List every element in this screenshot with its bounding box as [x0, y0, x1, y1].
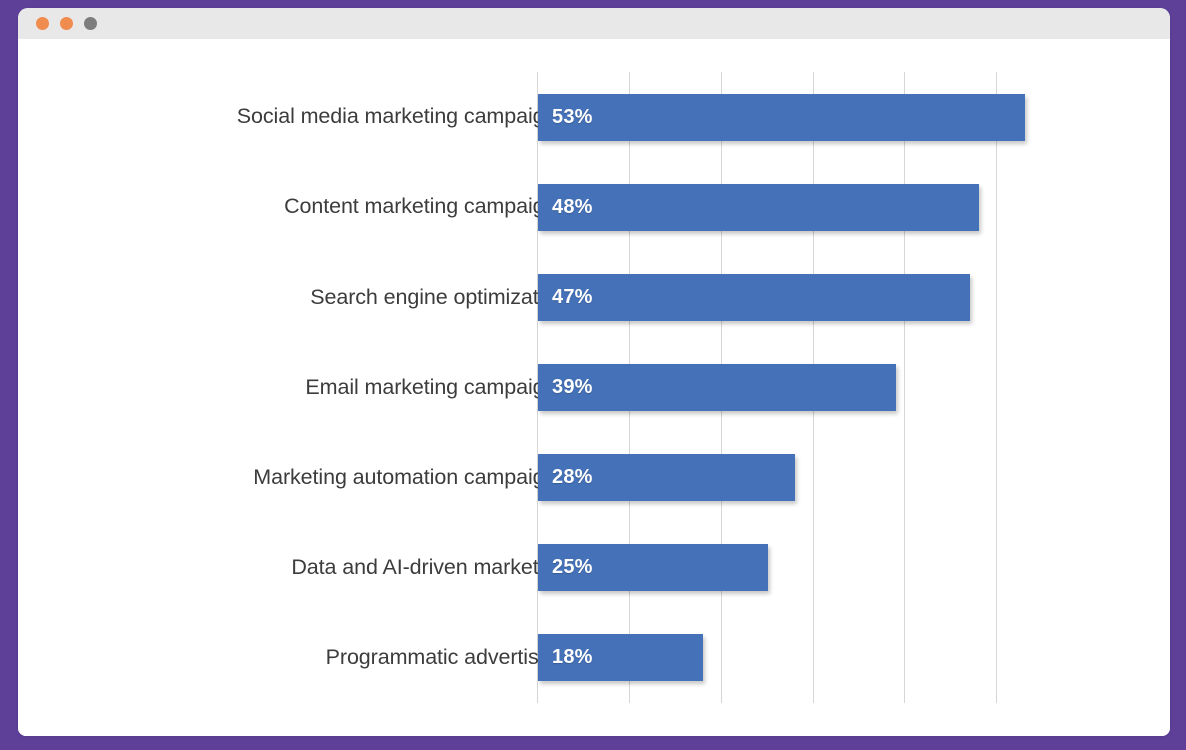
chart-bar[interactable]: 18% [538, 634, 703, 681]
category-label: Social media marketing campaigns [237, 106, 567, 128]
chart-row: Search engine optimization47% [537, 252, 1088, 342]
category-label: Programmatic advertising [326, 647, 567, 669]
category-label: Marketing automation campaigns [253, 467, 567, 489]
chart-bar[interactable]: 53% [538, 94, 1025, 141]
chart-row: Marketing automation campaigns28% [537, 433, 1088, 523]
window-titlebar [18, 8, 1170, 39]
window-dot-maximize[interactable] [84, 17, 97, 30]
window-viewport: Social media marketing campaigns53%Conte… [18, 39, 1170, 736]
chart-bar[interactable]: 39% [538, 364, 896, 411]
horizontal-bar-chart: Social media marketing campaigns53%Conte… [18, 39, 1170, 736]
window-dot-minimize[interactable] [60, 17, 73, 30]
chart-row: Programmatic advertising18% [537, 613, 1088, 703]
browser-window: Social media marketing campaigns53%Conte… [18, 8, 1170, 736]
category-label: Data and AI-driven marketing [291, 557, 567, 579]
chart-row: Content marketing campaigns48% [537, 162, 1088, 252]
bar-value-label: 18% [552, 646, 593, 669]
bar-value-label: 25% [552, 556, 593, 579]
bar-value-label: 47% [552, 286, 593, 309]
chart-row: Data and AI-driven marketing25% [537, 523, 1088, 613]
category-label: Search engine optimization [310, 287, 567, 309]
bar-value-label: 53% [552, 106, 593, 129]
bar-value-label: 28% [552, 466, 593, 489]
category-label: Content marketing campaigns [284, 196, 567, 218]
chart-row: Social media marketing campaigns53% [537, 72, 1088, 162]
chart-bar-rows: Social media marketing campaigns53%Conte… [537, 72, 1088, 703]
chart-bar[interactable]: 48% [538, 184, 979, 231]
chart-plot-area: Social media marketing campaigns53%Conte… [537, 72, 1088, 703]
chart-bar[interactable]: 47% [538, 274, 970, 321]
window-dot-close[interactable] [36, 17, 49, 30]
category-label: Email marketing campaigns [305, 377, 567, 399]
chart-bar[interactable]: 25% [538, 544, 768, 591]
chart-row: Email marketing campaigns39% [537, 342, 1088, 432]
chart-bar[interactable]: 28% [538, 454, 795, 501]
bar-value-label: 39% [552, 376, 593, 399]
page-root: Social media marketing campaigns53%Conte… [0, 0, 1186, 750]
bar-value-label: 48% [552, 196, 593, 219]
